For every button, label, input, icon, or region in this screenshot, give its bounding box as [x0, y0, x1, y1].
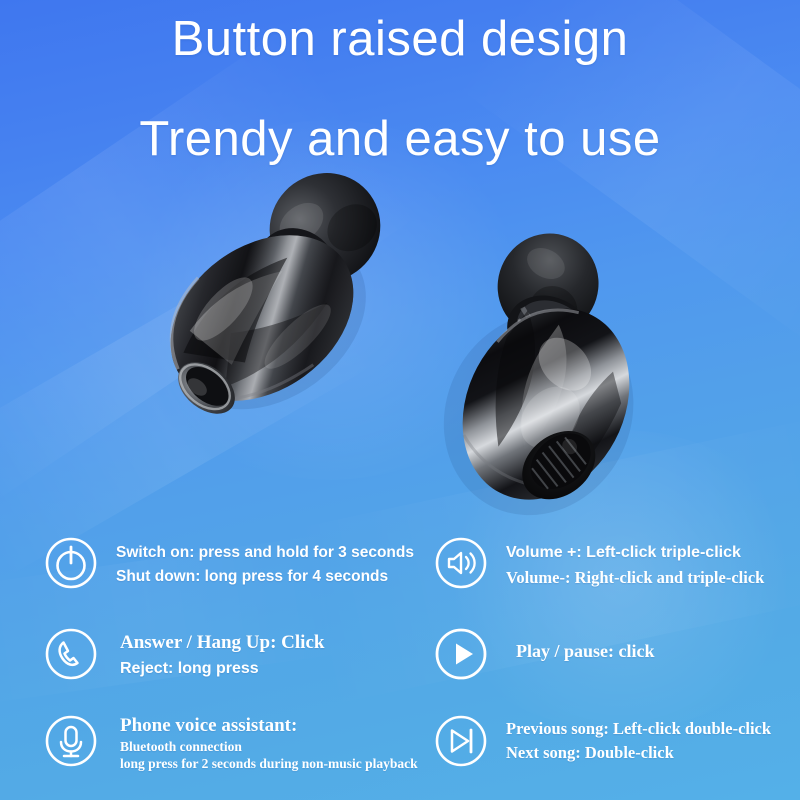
play-icon: [434, 627, 488, 681]
feature-text: Answer / Hang Up: Click Reject: long pre…: [98, 627, 324, 682]
feature-row-voice-assistant: Phone voice assistant: Bluetooth connect…: [44, 714, 418, 772]
feature-line: long press for 2 seconds during non-musi…: [120, 755, 418, 772]
feature-row-play-pause: Play / pause: click: [434, 627, 655, 681]
feature-list: Switch on: press and hold for 3 seconds …: [0, 0, 800, 800]
feature-row-track-skip: Previous song: Left-click double-click N…: [434, 714, 771, 768]
power-icon: [44, 536, 98, 590]
feature-line: Next song: Double-click: [506, 741, 771, 765]
phone-call-icon: [44, 627, 98, 681]
skip-next-icon: [434, 714, 488, 768]
feature-row-power: Switch on: press and hold for 3 seconds …: [44, 536, 414, 590]
feature-text: Previous song: Left-click double-click N…: [488, 714, 771, 765]
feature-text: Volume +: Left-click triple-click Volume…: [488, 536, 764, 590]
feature-text: Play / pause: click: [488, 627, 655, 663]
feature-line: Reject: long press: [120, 656, 324, 682]
feature-line: Shut down: long press for 4 seconds: [116, 565, 414, 589]
microphone-icon: [44, 714, 98, 768]
feature-line: Play / pause: click: [516, 639, 655, 663]
feature-line: Volume-: Right-click and triple-click: [506, 565, 764, 590]
feature-line: Phone voice assistant:: [120, 714, 418, 738]
product-infographic-poster: Button raised design Trendy and easy to …: [0, 0, 800, 800]
feature-row-volume: Volume +: Left-click triple-click Volume…: [434, 536, 764, 590]
feature-line: Switch on: press and hold for 3 seconds: [116, 541, 414, 565]
volume-speaker-icon: [434, 536, 488, 590]
feature-line: Bluetooth connection: [120, 738, 418, 755]
feature-line: Previous song: Left-click double-click: [506, 717, 771, 741]
feature-row-call: Answer / Hang Up: Click Reject: long pre…: [44, 627, 324, 682]
feature-line: Answer / Hang Up: Click: [120, 629, 324, 656]
feature-line: Volume +: Left-click triple-click: [506, 540, 764, 565]
feature-text: Phone voice assistant: Bluetooth connect…: [98, 714, 418, 772]
feature-text: Switch on: press and hold for 3 seconds …: [98, 536, 414, 589]
